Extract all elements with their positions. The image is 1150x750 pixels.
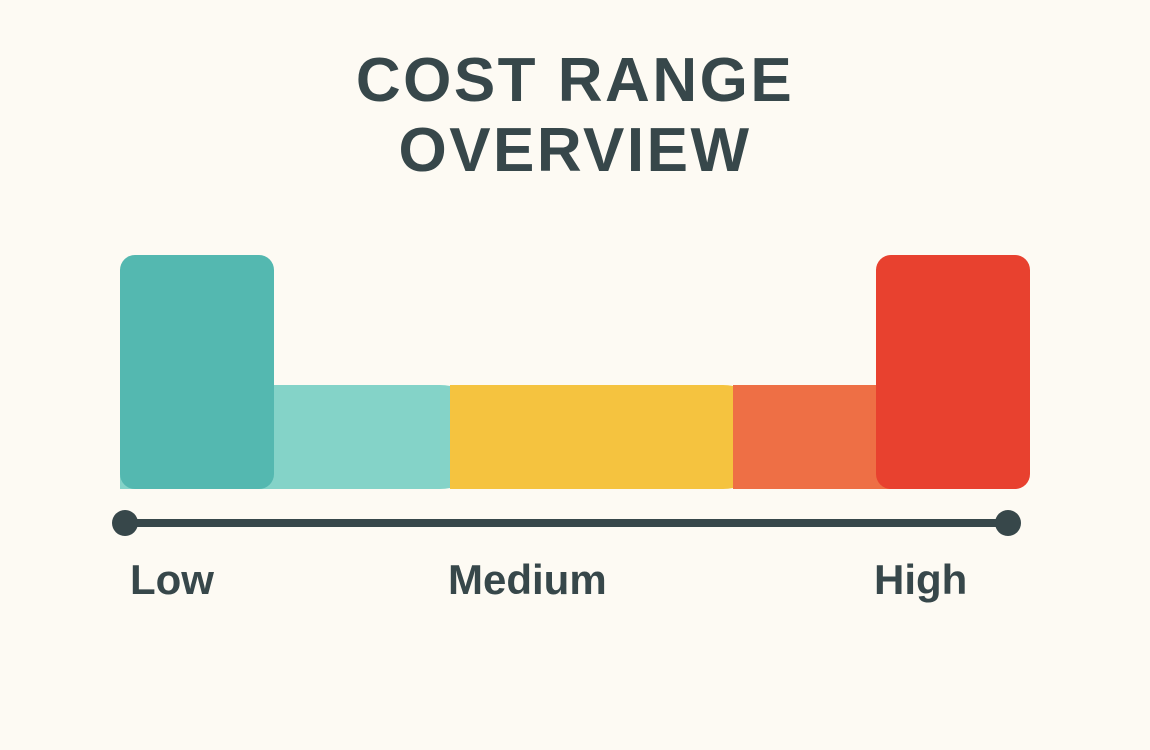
bar-segment-medium	[450, 385, 775, 489]
axis-label-low: Low	[130, 552, 214, 608]
bar-block-high	[876, 255, 1030, 489]
axis-label-medium: Medium	[448, 552, 607, 608]
circle-endpoint-icon-left	[112, 510, 138, 536]
axis-label-high: High	[874, 552, 967, 608]
bar-block-low	[120, 255, 274, 489]
axis-label-group: Low Medium High	[0, 552, 1150, 612]
cost-range-bar-chart: Low Medium High	[0, 0, 1150, 750]
cost-range-infographic: COST RANGE OVERVIEW Low Medium High	[0, 0, 1150, 750]
axis-line	[125, 519, 1009, 527]
circle-endpoint-icon-right	[995, 510, 1021, 536]
